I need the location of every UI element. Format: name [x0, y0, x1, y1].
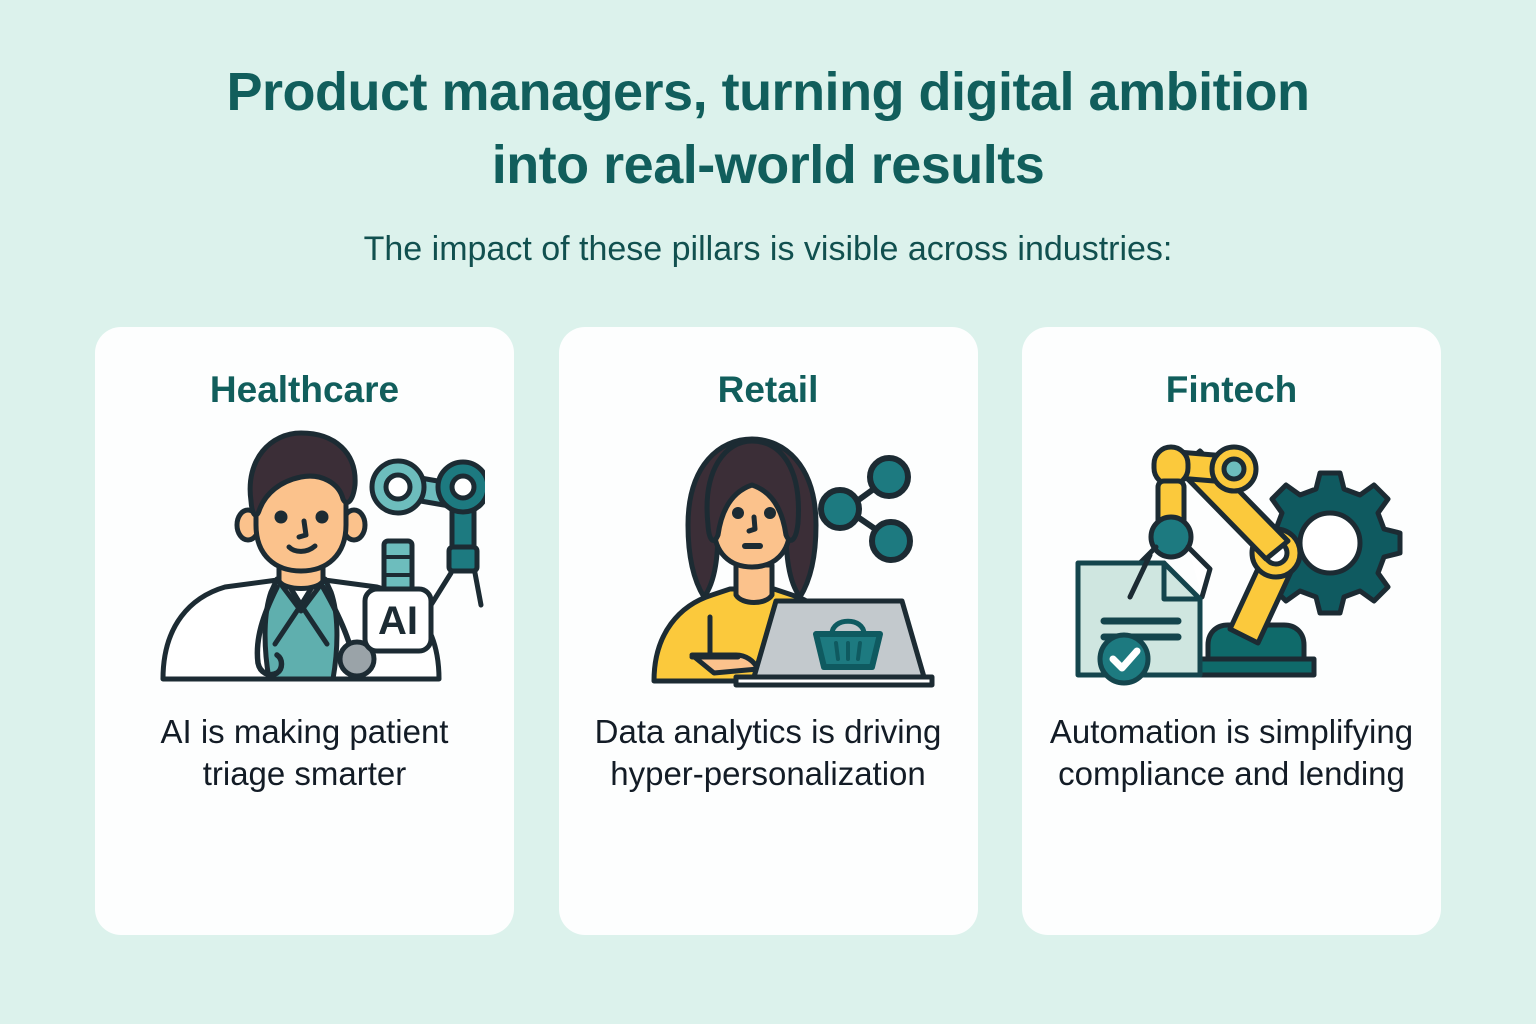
- page-title: Product managers, turning digital ambiti…: [188, 56, 1348, 203]
- woman-with-laptop-and-share-network-icon: [588, 429, 948, 691]
- card-title-fintech: Fintech: [1166, 370, 1298, 411]
- infographic-page: Product managers, turning digital ambiti…: [0, 0, 1536, 1024]
- card-title-healthcare: Healthcare: [210, 370, 399, 411]
- industry-card-retail[interactable]: Retail: [559, 327, 978, 935]
- industry-cards-row: Healthcare: [95, 327, 1441, 935]
- card-caption-retail: Data analytics is driving hyper-personal…: [577, 711, 960, 795]
- page-subtitle: The impact of these pillars is visible a…: [168, 229, 1368, 270]
- card-title-retail: Retail: [718, 370, 819, 411]
- industry-card-healthcare[interactable]: Healthcare: [95, 327, 514, 935]
- card-caption-fintech: Automation is simplifying compliance and…: [1040, 711, 1423, 795]
- industry-card-fintech[interactable]: Fintech: [1022, 327, 1441, 935]
- robot-arm-document-check-gear-icon: [1052, 429, 1412, 691]
- ai-badge-text: AI: [378, 599, 418, 643]
- doctor-with-ai-robot-arm-icon: AI: [125, 429, 485, 691]
- header: Product managers, turning digital ambiti…: [0, 0, 1536, 270]
- card-caption-healthcare: AI is making patient triage smarter: [113, 711, 496, 795]
